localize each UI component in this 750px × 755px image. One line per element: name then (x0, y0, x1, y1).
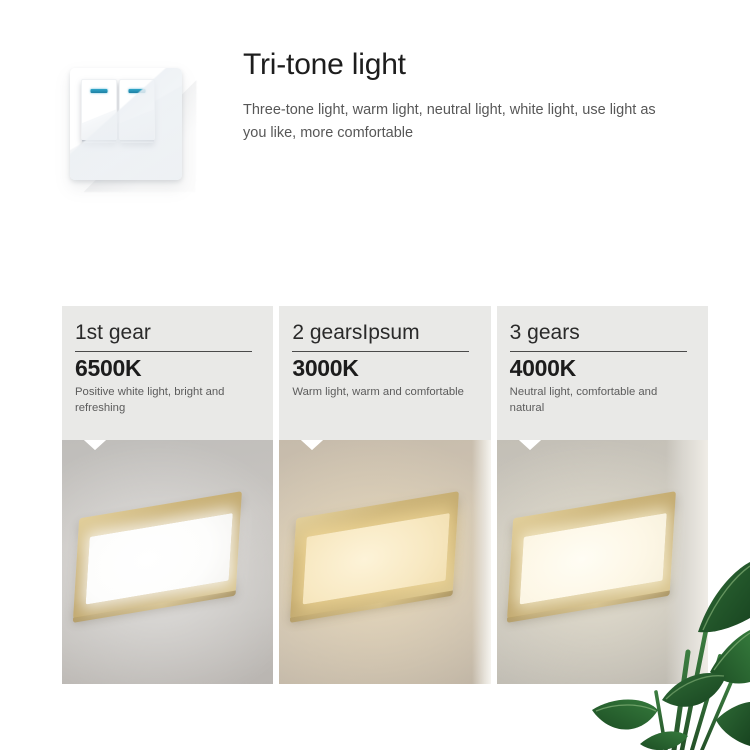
tone-panel-3[interactable]: 3 gears 4000K Neutral light, comfortable… (497, 306, 708, 684)
page-title: Tri-tone light (243, 48, 683, 81)
panel-caption: 3 gears 4000K Neutral light, comfortable… (497, 306, 708, 440)
wall-corner (472, 440, 491, 684)
kelvin-value: 3000K (292, 356, 476, 381)
caption-pointer-triangle (301, 440, 323, 450)
gear-label: 2 gearsIpsum (292, 322, 476, 343)
panel-description: Warm light, warm and comfortable (292, 384, 476, 400)
switch-rocker-left[interactable] (81, 79, 117, 141)
ceiling-photo (62, 440, 273, 684)
tone-panel-1[interactable]: 1st gear 6500K Positive white light, bri… (62, 306, 273, 684)
tone-panel-2[interactable]: 2 gearsIpsum 3000K Warm light, warm and … (279, 306, 490, 684)
kelvin-value: 6500K (75, 356, 259, 381)
led-indicator-icon (129, 89, 146, 93)
switch-rocker-right[interactable] (119, 79, 155, 141)
panel-caption: 1st gear 6500K Positive white light, bri… (62, 306, 273, 440)
gear-label: 1st gear (75, 322, 259, 343)
caption-pointer-triangle (84, 440, 106, 450)
wall-switch-illustration (62, 58, 232, 208)
ceiling-photo (497, 440, 708, 684)
tone-panel-row: 1st gear 6500K Positive white light, bri… (62, 306, 708, 684)
switch-rocker-group (81, 79, 155, 141)
divider-rule (292, 351, 469, 352)
gear-label: 3 gears (510, 322, 694, 343)
page-subtitle: Three-tone light, warm light, neutral li… (243, 99, 683, 146)
divider-rule (75, 351, 252, 352)
kelvin-value: 4000K (510, 356, 694, 381)
header-block: Tri-tone light Three-tone light, warm li… (243, 48, 683, 146)
caption-pointer-triangle (519, 440, 541, 450)
panel-description: Neutral light, comfortable and natural (510, 384, 694, 416)
divider-rule (510, 351, 687, 352)
ceiling-photo (279, 440, 490, 684)
wall-corner (666, 440, 708, 684)
panel-caption: 2 gearsIpsum 3000K Warm light, warm and … (279, 306, 490, 440)
led-indicator-icon (91, 89, 108, 93)
panel-description: Positive white light, bright and refresh… (75, 384, 259, 416)
